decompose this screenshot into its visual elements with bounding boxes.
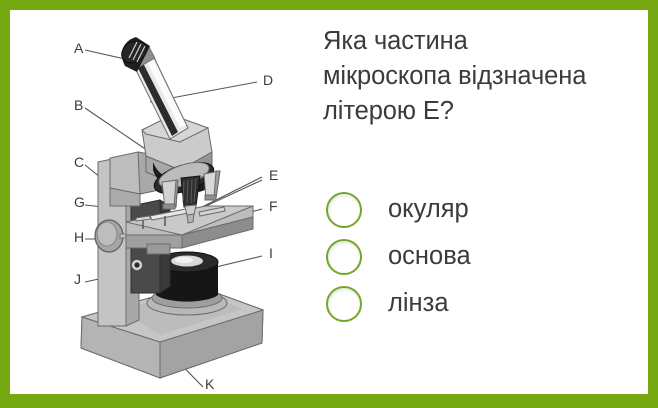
answer-option-1[interactable]: окуляр [321,186,646,233]
figure-label-J: J [74,271,81,287]
answer-options: окуляр основа лінза [321,186,646,327]
question-line-2: мікроскопа відзначена [323,59,648,94]
radio-button-icon[interactable] [326,192,362,228]
figure-label-A: A [74,40,84,56]
radio-button-icon[interactable] [326,286,362,322]
quiz-card: A B C D E F G H I J K Яка частина мікрос… [0,0,658,408]
figure-label-F: F [269,198,278,214]
question-line-1: Яка частина [323,24,648,59]
figure-label-D: D [263,72,273,88]
figure-label-H: H [74,229,84,245]
figure-label-I: I [269,245,273,261]
microscope-figure: A B C D E F G H I J K [10,10,306,394]
answer-option-3-label: лінза [388,291,449,317]
question-text: Яка частина мікроскопа відзначена літеро… [323,24,648,129]
answer-option-2[interactable]: основа [321,233,646,280]
quiz-panel: Яка частина мікроскопа відзначена літеро… [313,10,648,394]
radio-button-icon[interactable] [326,239,362,275]
figure-label-C: C [74,154,84,170]
figure-label-B: B [74,97,83,113]
figure-label-G: G [74,194,85,210]
question-line-3: літерою E? [323,94,648,129]
quiz-card-inner: A B C D E F G H I J K Яка частина мікрос… [10,10,648,394]
figure-label-K: K [205,376,215,392]
answer-option-3[interactable]: лінза [321,280,646,327]
answer-option-2-label: основа [388,244,471,270]
figure-label-E: E [269,167,278,183]
answer-option-1-label: окуляр [388,197,469,223]
